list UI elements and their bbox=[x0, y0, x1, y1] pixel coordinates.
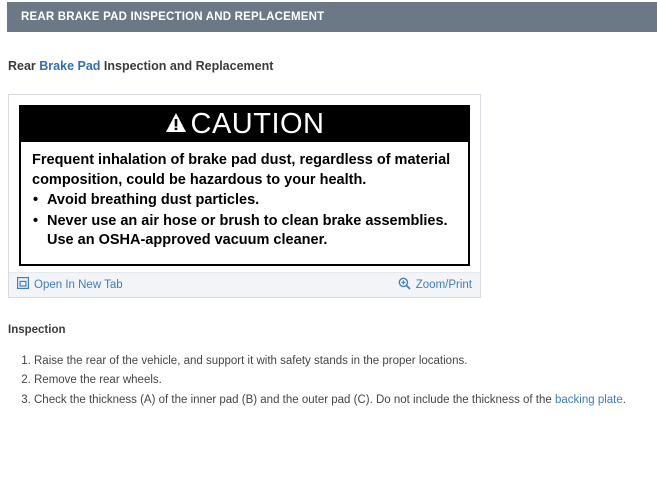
list-item: Raise the rear of the vehicle, and suppo… bbox=[34, 352, 649, 371]
breadcrumb-link-brake-pad[interactable]: Brake Pad bbox=[39, 59, 100, 73]
header-title: REAR BRAKE PAD INSPECTION AND REPLACEMEN… bbox=[21, 11, 324, 23]
caution-header: CAUTION bbox=[21, 107, 468, 142]
caution-bullet-item: Never use an air hose or brush to clean … bbox=[32, 212, 457, 251]
backing-plate-link[interactable]: backing plate bbox=[555, 394, 623, 406]
caution-bullet-list: Avoid breathing dust particles. Never us… bbox=[32, 191, 457, 251]
breadcrumb-suffix: Inspection and Replacement bbox=[100, 59, 273, 73]
figure-toolbar: Open In New Tab Zoom/Print bbox=[9, 272, 480, 297]
caution-paragraph: Frequent inhalation of brake pad dust, r… bbox=[32, 151, 457, 190]
step-text-prefix: Check the thickness (A) of the inner pad… bbox=[34, 394, 555, 406]
figure-image-area[interactable]: CAUTION Frequent inhalation of brake pad… bbox=[9, 95, 480, 272]
main-content: Rear Brake Pad Inspection and Replacemen… bbox=[0, 36, 657, 410]
magnifier-plus-icon bbox=[398, 277, 411, 293]
open-in-new-tab-label: Open In New Tab bbox=[34, 279, 123, 291]
zoom-print-label: Zoom/Print bbox=[416, 279, 472, 291]
caution-bullet-item: Avoid breathing dust particles. bbox=[32, 191, 457, 211]
page-header: REAR BRAKE PAD INSPECTION AND REPLACEMEN… bbox=[0, 0, 657, 36]
list-item: Check the thickness (A) of the inner pad… bbox=[34, 391, 649, 410]
section-title-inspection: Inspection bbox=[8, 324, 649, 336]
caution-graphic: CAUTION Frequent inhalation of brake pad… bbox=[19, 105, 470, 266]
warning-triangle-icon bbox=[165, 112, 187, 138]
breadcrumb-prefix: Rear bbox=[8, 59, 39, 73]
open-in-new-window-icon bbox=[17, 277, 29, 292]
list-item: Remove the rear wheels. bbox=[34, 371, 649, 390]
header-bar: REAR BRAKE PAD INSPECTION AND REPLACEMEN… bbox=[7, 2, 657, 32]
step-text-suffix: . bbox=[623, 394, 626, 406]
caution-body: Frequent inhalation of brake pad dust, r… bbox=[21, 142, 468, 264]
figure-panel: CAUTION Frequent inhalation of brake pad… bbox=[8, 94, 481, 298]
zoom-print-button[interactable]: Zoom/Print bbox=[398, 277, 472, 293]
open-in-new-tab-button[interactable]: Open In New Tab bbox=[17, 277, 123, 292]
caution-heading: CAUTION bbox=[191, 110, 325, 139]
inspection-steps-list: Raise the rear of the vehicle, and suppo… bbox=[8, 352, 649, 410]
breadcrumb: Rear Brake Pad Inspection and Replacemen… bbox=[8, 58, 649, 74]
